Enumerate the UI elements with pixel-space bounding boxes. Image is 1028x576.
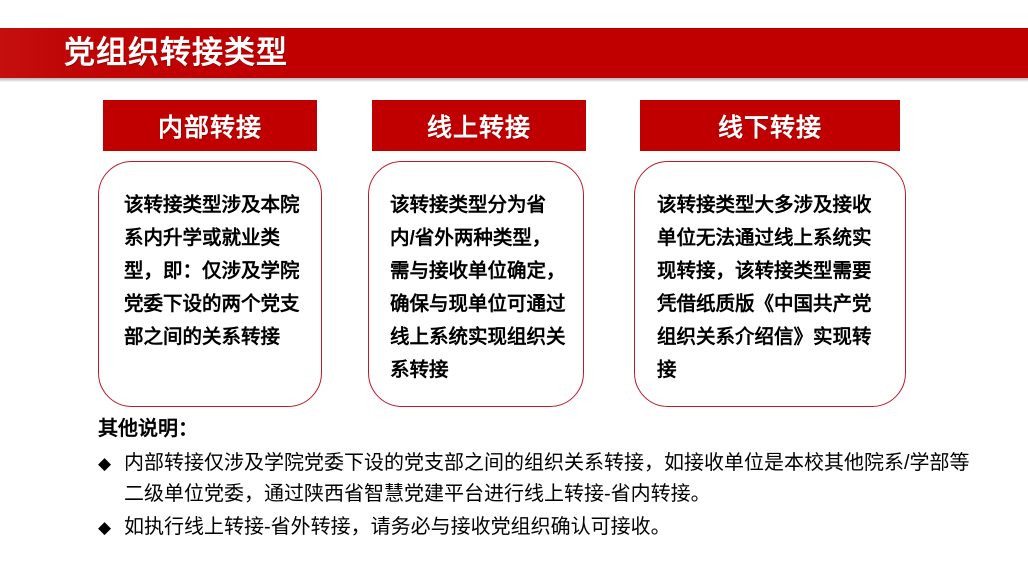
content-card-online: 该转接类型分为省内/省外两种类型，需与接收单位确定，确保与现单位可通过线上系统实… xyxy=(368,161,584,407)
column-header-label: 内部转接 xyxy=(158,108,262,144)
note-list-item: ◆ 如执行线上转接-省外转接，请务必与接收党组织确认可接收。 xyxy=(98,512,978,543)
title-bar-shadow xyxy=(0,78,1028,82)
note-list-item: ◆ 内部转接仅涉及学院党委下设的党支部之间的组织关系转接，如接收单位是本校其他院… xyxy=(98,448,978,510)
diamond-bullet-icon: ◆ xyxy=(98,448,124,479)
column-header-label: 线下转接 xyxy=(718,108,822,144)
notes-title: 其他说明： xyxy=(98,414,978,444)
note-text: 如执行线上转接-省外转接，请务必与接收党组织确认可接收。 xyxy=(124,512,978,543)
note-text: 内部转接仅涉及学院党委下设的党支部之间的组织关系转接，如接收单位是本校其他院系/… xyxy=(124,448,978,510)
diamond-bullet-icon: ◆ xyxy=(98,512,124,543)
card-body-text: 该转接类型大多涉及接收单位无法通过线上系统实现转接，该转接类型需要凭借纸质版《中… xyxy=(657,189,889,387)
page-title: 党组织转接类型 xyxy=(64,33,288,73)
card-body-text: 该转接类型分为省内/省外两种类型，需与接收单位确定，确保与现单位可通过线上系统实… xyxy=(390,189,568,387)
card-body-text: 该转接类型涉及本院系内升学或就业类型，即：仅涉及学院党委下设的两个党支部之间的关… xyxy=(124,189,302,354)
notes-section: 其他说明： ◆ 内部转接仅涉及学院党委下设的党支部之间的组织关系转接，如接收单位… xyxy=(98,414,978,545)
column-header-internal: 内部转接 xyxy=(103,100,317,151)
column-header-offline: 线下转接 xyxy=(640,100,900,151)
column-header-label: 线上转接 xyxy=(427,108,531,144)
content-card-internal: 该转接类型涉及本院系内升学或就业类型，即：仅涉及学院党委下设的两个党支部之间的关… xyxy=(98,161,322,407)
column-header-online: 线上转接 xyxy=(372,100,586,151)
content-card-offline: 该转接类型大多涉及接收单位无法通过线上系统实现转接，该转接类型需要凭借纸质版《中… xyxy=(634,161,906,407)
